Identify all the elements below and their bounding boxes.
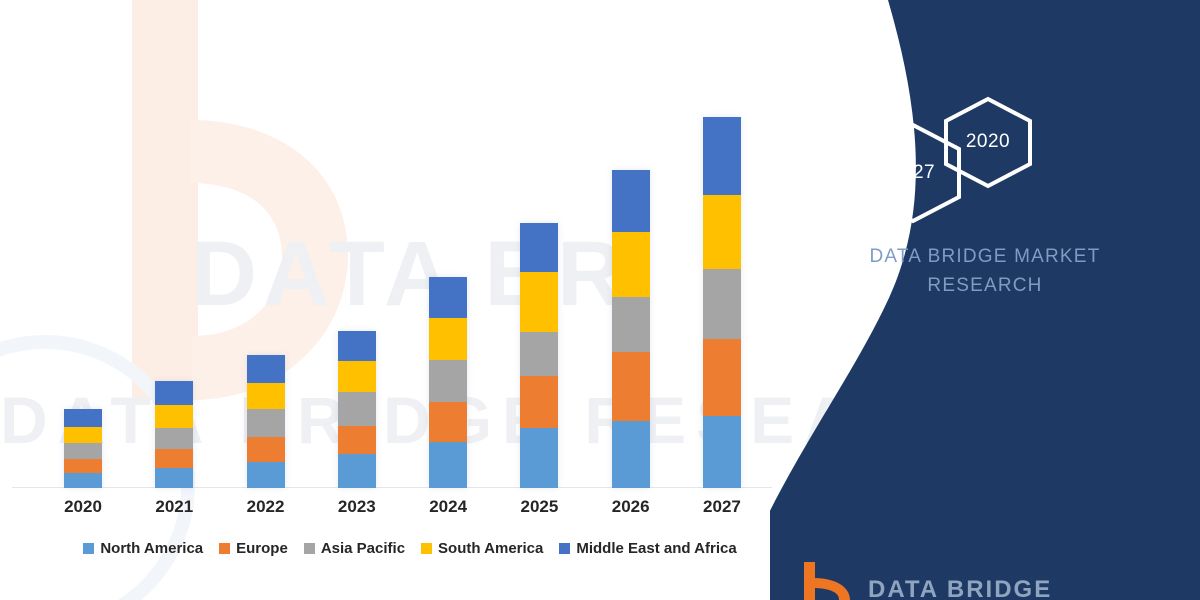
chart-screenshot: DATA BR DATA BRIDGE RESEARCH 20202021202…: [0, 0, 1200, 600]
bar-segment[interactable]: [520, 376, 558, 429]
stacked-bar[interactable]: [155, 381, 193, 488]
x-axis-label: 2027: [679, 497, 765, 517]
bar-column: [131, 110, 217, 488]
bar-segment[interactable]: [520, 428, 558, 488]
bar-segment[interactable]: [612, 421, 650, 488]
bar-segment[interactable]: [612, 170, 650, 232]
brand-name-line1: DATA BRIDGE MARKET: [790, 243, 1180, 272]
bridge-logo-icon: [800, 560, 854, 600]
legend-swatch-icon: [421, 543, 432, 554]
bar-segment[interactable]: [338, 392, 376, 426]
bar-segment[interactable]: [64, 443, 102, 459]
bar-segment[interactable]: [64, 473, 102, 488]
brand-name: DATA BRIDGE MARKET RESEARCH: [790, 243, 1180, 300]
bar-segment[interactable]: [338, 454, 376, 488]
stacked-bar[interactable]: [338, 331, 376, 488]
bar-segment[interactable]: [429, 318, 467, 360]
bar-segment[interactable]: [703, 269, 741, 339]
bar-segment[interactable]: [429, 360, 467, 402]
bar-segment[interactable]: [429, 442, 467, 488]
bar-segment[interactable]: [247, 383, 285, 409]
chart-legend: North AmericaEuropeAsia PacificSouth Ame…: [40, 540, 780, 557]
footer-logo: DATA BRIDGE: [800, 560, 1052, 600]
x-axis-label: 2020: [40, 497, 126, 517]
bar-segment[interactable]: [338, 361, 376, 393]
bar-segment[interactable]: [612, 352, 650, 421]
bar-segment[interactable]: [155, 449, 193, 468]
x-axis-label: 2023: [314, 497, 400, 517]
brand-name-line2: RESEARCH: [790, 272, 1180, 301]
legend-label: Europe: [236, 540, 288, 557]
bar-column: [679, 110, 765, 488]
bar-segment[interactable]: [64, 459, 102, 474]
legend-item[interactable]: Asia Pacific: [304, 540, 405, 557]
legend-label: Middle East and Africa: [576, 540, 736, 557]
bar-segment[interactable]: [429, 402, 467, 442]
x-axis-label: 2024: [405, 497, 491, 517]
stacked-bar[interactable]: [703, 117, 741, 488]
bar-segment[interactable]: [64, 409, 102, 427]
stacked-bar-chart: 20202021202220232024202520262027 North A…: [0, 0, 820, 600]
bar-segment[interactable]: [155, 381, 193, 405]
x-axis-label: 2021: [131, 497, 217, 517]
x-axis-tick-labels: 20202021202220232024202520262027: [40, 497, 765, 517]
bar-segment[interactable]: [64, 427, 102, 443]
x-axis-label: 2022: [223, 497, 309, 517]
bar-segment[interactable]: [612, 297, 650, 352]
x-axis-label: 2026: [588, 497, 674, 517]
footer-logo-text: DATA BRIDGE: [868, 576, 1052, 600]
legend-label: Asia Pacific: [321, 540, 405, 557]
hexagon-2027-label: 2027: [891, 162, 935, 184]
bar-segment[interactable]: [338, 426, 376, 454]
chart-plot-area: [40, 110, 765, 488]
legend-swatch-icon: [559, 543, 570, 554]
bar-column: [588, 110, 674, 488]
legend-label: North America: [100, 540, 203, 557]
legend-item[interactable]: Middle East and Africa: [559, 540, 736, 557]
bar-column: [223, 110, 309, 488]
bar-segment[interactable]: [247, 437, 285, 462]
bar-column: [496, 110, 582, 488]
bar-segment[interactable]: [155, 428, 193, 449]
bar-column: [405, 110, 491, 488]
hexagon-2020: 2020: [940, 95, 1036, 189]
bar-segment[interactable]: [520, 223, 558, 271]
stacked-bar[interactable]: [64, 409, 102, 488]
stacked-bar[interactable]: [247, 355, 285, 488]
stacked-bar[interactable]: [520, 223, 558, 488]
bar-segment[interactable]: [247, 355, 285, 383]
legend-item[interactable]: South America: [421, 540, 543, 557]
bar-column: [40, 110, 126, 488]
bar-segment[interactable]: [520, 272, 558, 332]
bar-segment[interactable]: [155, 405, 193, 428]
bar-segment[interactable]: [612, 232, 650, 297]
legend-item[interactable]: North America: [83, 540, 203, 557]
bar-segment[interactable]: [703, 416, 741, 488]
bar-segment[interactable]: [338, 331, 376, 361]
bar-column: [314, 110, 400, 488]
bar-segment[interactable]: [247, 462, 285, 488]
bar-segment[interactable]: [247, 409, 285, 436]
legend-swatch-icon: [219, 543, 230, 554]
legend-item[interactable]: Europe: [219, 540, 288, 557]
brand-panel: 2027 2020 DATA BRIDGE MARKET RESEARCH DA…: [770, 0, 1200, 600]
bar-segment[interactable]: [155, 468, 193, 488]
hexagon-2020-label: 2020: [966, 131, 1010, 153]
bar-segment[interactable]: [703, 339, 741, 416]
bar-segment[interactable]: [703, 117, 741, 195]
bar-segment[interactable]: [520, 332, 558, 376]
year-hexagons: 2027 2020: [860, 95, 1090, 225]
legend-swatch-icon: [304, 543, 315, 554]
x-axis-label: 2025: [496, 497, 582, 517]
legend-label: South America: [438, 540, 543, 557]
bar-segment[interactable]: [429, 277, 467, 318]
legend-swatch-icon: [83, 543, 94, 554]
stacked-bar[interactable]: [429, 277, 467, 488]
stacked-bar[interactable]: [612, 170, 650, 488]
bar-segment[interactable]: [703, 195, 741, 269]
